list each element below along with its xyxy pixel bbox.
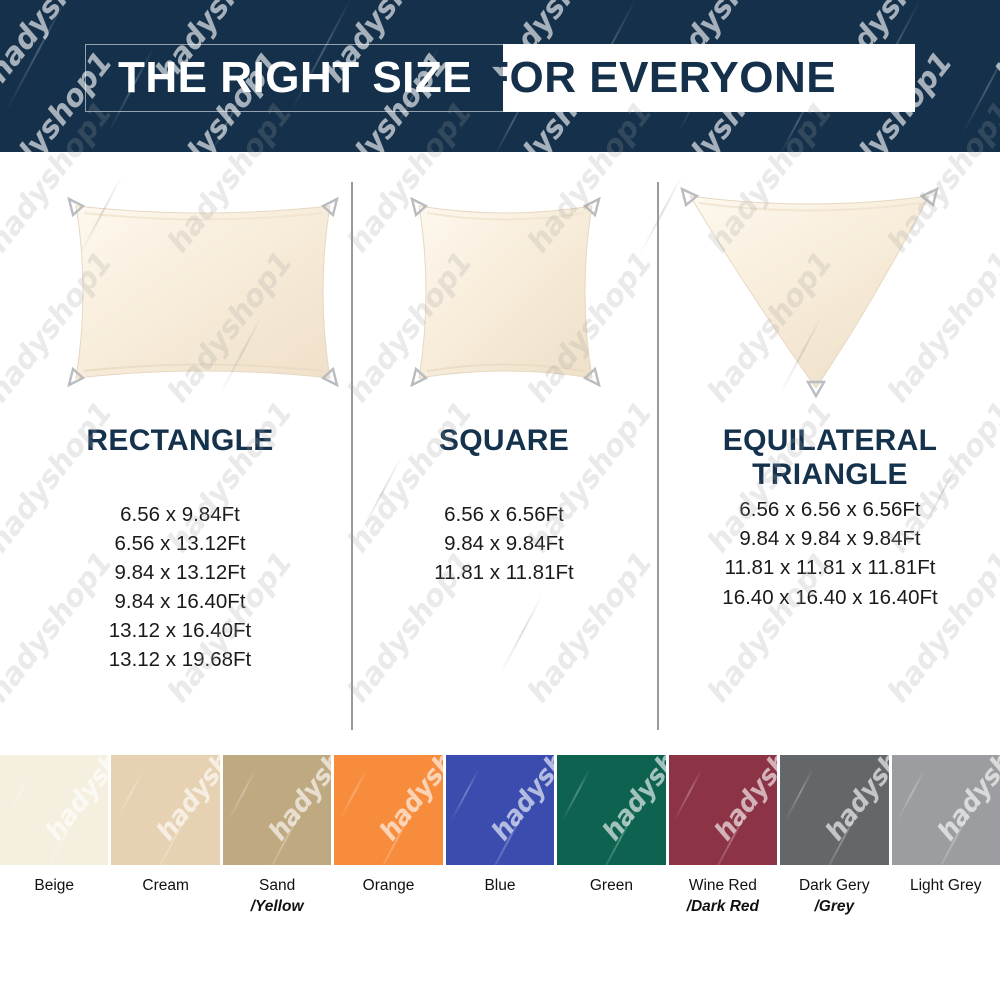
size-option: 9.84 x 9.84Ft <box>358 529 650 558</box>
column-title-triangle: EQUILATERAL TRIANGLE <box>660 424 1000 491</box>
page-title-part2: FOR EVERYONE <box>482 56 836 100</box>
column-square: SQUARE 6.56 x 6.56Ft9.84 x 9.84Ft11.81 x… <box>358 424 650 587</box>
color-name: Beige <box>34 877 74 894</box>
color-alt-name: /Dark Red <box>669 897 777 918</box>
equilateral-triangle-shade-sail-image <box>672 180 947 402</box>
color-name: Dark Gery <box>799 877 870 894</box>
color-name: Orange <box>363 877 415 894</box>
size-option: 9.84 x 16.40Ft <box>20 587 340 616</box>
color-swatch-green[interactable]: hadyshop1 <box>557 755 665 865</box>
column-triangle: EQUILATERAL TRIANGLE 6.56 x 6.56 x 6.56F… <box>660 424 1000 612</box>
size-list-square: 6.56 x 6.56Ft9.84 x 9.84Ft11.81 x 11.81F… <box>358 500 650 587</box>
size-option: 16.40 x 16.40 x 16.40Ft <box>660 583 1000 612</box>
color-label-dark-gery: Dark Gery/Grey <box>780 876 888 918</box>
color-label-blue: Blue <box>446 876 554 918</box>
size-list-rectangle: 6.56 x 9.84Ft6.56 x 13.12Ft9.84 x 13.12F… <box>20 500 340 675</box>
column-rectangle: RECTANGLE 6.56 x 9.84Ft6.56 x 13.12Ft9.8… <box>20 424 340 674</box>
color-name: Sand <box>259 877 295 894</box>
size-option: 6.56 x 13.12Ft <box>20 529 340 558</box>
size-option: 6.56 x 9.84Ft <box>20 500 340 529</box>
watermark-text: hadyshop1 <box>486 755 554 847</box>
size-list-triangle: 6.56 x 6.56 x 6.56Ft9.84 x 9.84 x 9.84Ft… <box>660 495 1000 611</box>
column-divider-1 <box>351 182 353 730</box>
square-shade-sail-image <box>403 186 608 396</box>
color-name: Cream <box>142 877 189 894</box>
page-title: THE RIGHT SIZE FOR EVERYONE <box>85 44 915 112</box>
color-label-row: BeigeCreamSand/YellowOrangeBlueGreenWine… <box>0 876 1000 918</box>
color-label-sand: Sand/Yellow <box>223 876 331 918</box>
color-alt-name: /Grey <box>780 897 888 918</box>
size-option: 9.84 x 9.84 x 9.84Ft <box>660 524 1000 553</box>
color-name: Wine Red <box>689 877 757 894</box>
color-label-beige: Beige <box>0 876 108 918</box>
color-name: Light Grey <box>910 877 982 894</box>
color-swatch-blue[interactable]: hadyshop1 <box>446 755 554 865</box>
size-option: 11.81 x 11.81Ft <box>358 558 650 587</box>
color-name: Green <box>590 877 633 894</box>
column-title-square: SQUARE <box>358 424 650 458</box>
watermark-text: hadyshop1 <box>989 46 1000 152</box>
rectangle-shade-sail-image <box>58 186 348 396</box>
color-swatch-orange[interactable]: hadyshop1 <box>334 755 442 865</box>
watermark-text: hadyshop1 <box>152 755 220 847</box>
color-label-green: Green <box>557 876 665 918</box>
color-alt-name: /Yellow <box>223 897 331 918</box>
size-option: 9.84 x 13.12Ft <box>20 558 340 587</box>
watermark-text: hadyshop1 <box>932 755 1000 847</box>
watermark-text: hadyshop1 <box>40 755 108 847</box>
watermark-text: hadyshop1 <box>989 0 1000 89</box>
color-label-light-grey: Light Grey <box>892 876 1000 918</box>
color-swatch-strip: hadyshop1hadyshop1hadyshop1hadyshop1hady… <box>0 755 1000 865</box>
watermark-text: hadyshop1 <box>820 755 888 847</box>
color-label-wine-red: Wine Red/Dark Red <box>669 876 777 918</box>
color-swatch-beige[interactable]: hadyshop1 <box>0 755 108 865</box>
watermark-text: hadyshop1 <box>709 755 777 847</box>
color-swatch-light-grey[interactable]: hadyshop1 <box>892 755 1000 865</box>
size-option: 13.12 x 16.40Ft <box>20 616 340 645</box>
size-option: 13.12 x 19.68Ft <box>20 645 340 674</box>
color-swatch-dark-gery[interactable]: hadyshop1 <box>780 755 888 865</box>
color-swatch-wine-red[interactable]: hadyshop1 <box>669 755 777 865</box>
color-swatch-sand[interactable]: hadyshop1 <box>223 755 331 865</box>
page-title-part1: THE RIGHT SIZE <box>118 56 472 100</box>
size-option: 6.56 x 6.56Ft <box>358 500 650 529</box>
watermark-text: hadyshop1 <box>597 755 665 847</box>
watermark-text: hadyshop1 <box>374 755 442 847</box>
size-option: 6.56 x 6.56 x 6.56Ft <box>660 495 1000 524</box>
size-option: 11.81 x 11.81 x 11.81Ft <box>660 553 1000 582</box>
color-name: Blue <box>484 877 515 894</box>
watermark-text: hadyshop1 <box>263 755 331 847</box>
color-label-cream: Cream <box>111 876 219 918</box>
color-label-orange: Orange <box>334 876 442 918</box>
column-title-rectangle: RECTANGLE <box>20 424 340 458</box>
column-divider-2 <box>657 182 659 730</box>
color-swatch-cream[interactable]: hadyshop1 <box>111 755 219 865</box>
